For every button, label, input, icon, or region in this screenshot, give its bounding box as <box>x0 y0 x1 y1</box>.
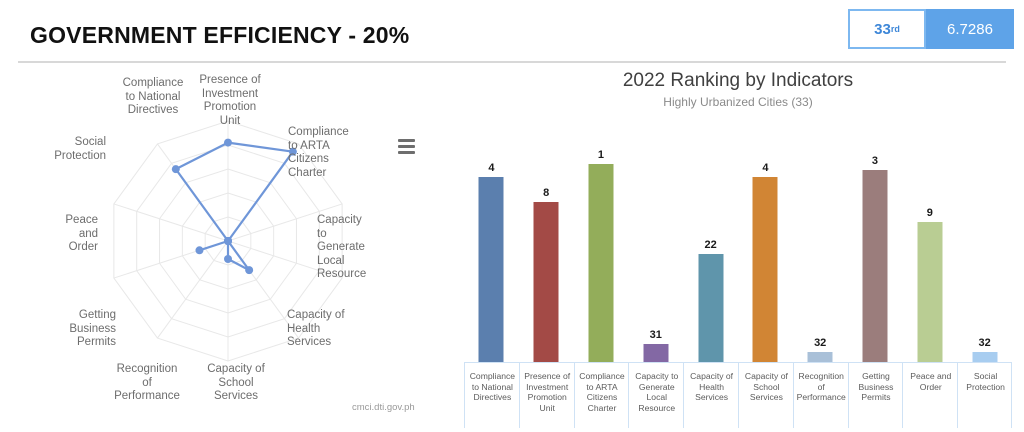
bar-value-label: 31 <box>650 329 662 341</box>
source-credit: cmci.dti.gov.ph <box>352 402 415 413</box>
radar-label-recognition-of-performance: Recognition of Performance <box>105 363 189 404</box>
radar-label-social-protection: Social Protection <box>26 136 106 163</box>
x-axis-category: Peace and Order <box>902 362 957 428</box>
rank-value: 33 <box>874 21 891 38</box>
radar-label-compliance-to-arta-citizens-charter: Compliance to ARTA Citizens Charter <box>288 126 368 180</box>
bar-value-label: 1 <box>598 149 604 161</box>
x-axis-category-label: Capacity to Generate Local Resource <box>629 371 684 413</box>
bar-slot: 31 <box>628 122 683 362</box>
x-axis-category-label: Compliance to ARTA Citizens Charter <box>575 371 630 413</box>
x-axis-tick <box>628 362 629 369</box>
bar-slot: 32 <box>793 122 848 362</box>
radar-chart-panel: Presence of Investment Promotion Unit Co… <box>0 64 452 423</box>
bar-value-label: 22 <box>704 239 716 251</box>
page-title: GOVERNMENT EFFICIENCY - 20% <box>30 22 409 49</box>
bar[interactable] <box>479 177 504 362</box>
bar-slot: 9 <box>902 122 957 362</box>
x-axis-tick <box>683 362 684 369</box>
x-axis-category: Capacity of School Services <box>738 362 793 428</box>
radar-label-peace-and-order: Peace and Order <box>18 214 98 255</box>
x-axis-category-label: Capacity of Health Services <box>684 371 739 403</box>
x-axis-category-label: Peace and Order <box>903 371 958 392</box>
rank-score-badge: 33rd 6.7286 <box>848 9 1014 49</box>
bar[interactable] <box>588 164 613 362</box>
x-axis-category-label: Presence of Investment Promotion Unit <box>520 371 575 413</box>
x-axis-labels: Compliance to National DirectivesPresenc… <box>464 362 1012 432</box>
bar[interactable] <box>698 254 723 362</box>
bar[interactable] <box>862 170 887 362</box>
bar-slot: 1 <box>574 122 629 362</box>
bar[interactable] <box>972 352 997 362</box>
rank-suffix: rd <box>891 24 900 34</box>
x-axis-category: Compliance to ARTA Citizens Charter <box>574 362 629 428</box>
radar-label-compliance-to-national-directives: Compliance to National Directives <box>112 77 194 118</box>
x-axis-category: Getting Business Permits <box>848 362 903 428</box>
radar-label-capacity-of-health-services: Capacity of Health Services <box>287 309 367 350</box>
x-axis-category: Compliance to National Directives <box>464 362 519 428</box>
bar-value-label: 4 <box>762 162 768 174</box>
bar[interactable] <box>534 202 559 362</box>
x-axis-category-label: Capacity of School Services <box>739 371 794 403</box>
header-divider <box>18 61 1006 63</box>
x-axis-category: Social Protection <box>957 362 1012 428</box>
x-axis-category-label: Compliance to National Directives <box>465 371 520 403</box>
header-bar: GOVERNMENT EFFICIENCY - 20% 33rd 6.7286 <box>0 0 1024 62</box>
bar-slot: 4 <box>738 122 793 362</box>
bar-slot: 8 <box>519 122 574 362</box>
bar-slot: 32 <box>957 122 1012 362</box>
x-axis-tick <box>738 362 739 369</box>
bar-value-label: 9 <box>927 207 933 219</box>
radar-label-capacity-of-school-services: Capacity of School Services <box>196 363 276 404</box>
bar[interactable] <box>808 352 833 362</box>
x-axis-tick <box>519 362 520 369</box>
bar-value-label: 8 <box>543 187 549 199</box>
bar[interactable] <box>753 177 778 362</box>
x-axis-category-label: Social Protection <box>958 371 1013 392</box>
x-axis-tick <box>957 362 958 369</box>
bar-value-label: 32 <box>978 337 990 349</box>
radar-label-getting-business-permits: Getting Business Permits <box>36 309 116 350</box>
x-axis-tick <box>574 362 575 369</box>
x-axis-category: Presence of Investment Promotion Unit <box>519 362 574 428</box>
bar-chart-panel: 2022 Ranking by Indicators Highly Urbani… <box>452 64 1024 423</box>
bar-value-label: 4 <box>488 162 494 174</box>
bar-chart-title: 2022 Ranking by Indicators <box>452 70 1024 92</box>
x-axis-category-label: Getting Business Permits <box>849 371 904 403</box>
x-axis-category: Capacity to Generate Local Resource <box>628 362 683 428</box>
bar-chart-subtitle: Highly Urbanized Cities (33) <box>452 95 1024 109</box>
bar-slot: 4 <box>464 122 519 362</box>
bar-value-label: 32 <box>814 337 826 349</box>
radar-label-capacity-to-generate-local-resource: Capacity to Generate Local Resource <box>317 214 397 282</box>
x-axis-tick <box>793 362 794 369</box>
bar-value-label: 3 <box>872 155 878 167</box>
x-axis-tick <box>464 362 465 369</box>
score-cell: 6.7286 <box>926 9 1014 49</box>
bar-plot-area: 48131224323932 <box>464 122 1012 362</box>
radar-label-presence-of-investment-promotion-unit: Presence of Investment Promotion Unit <box>188 74 272 128</box>
x-axis-category: Capacity of Health Services <box>683 362 738 428</box>
bar[interactable] <box>917 222 942 362</box>
rank-cell: 33rd <box>848 9 926 49</box>
x-axis-tick <box>848 362 849 369</box>
bar-slot: 3 <box>848 122 903 362</box>
x-axis-tick <box>902 362 903 369</box>
x-axis-category: Recognition of Performance <box>793 362 848 428</box>
radar-series <box>172 139 297 275</box>
x-axis-category-label: Recognition of Performance <box>794 371 849 403</box>
bar-slot: 22 <box>683 122 738 362</box>
bar[interactable] <box>643 344 668 362</box>
